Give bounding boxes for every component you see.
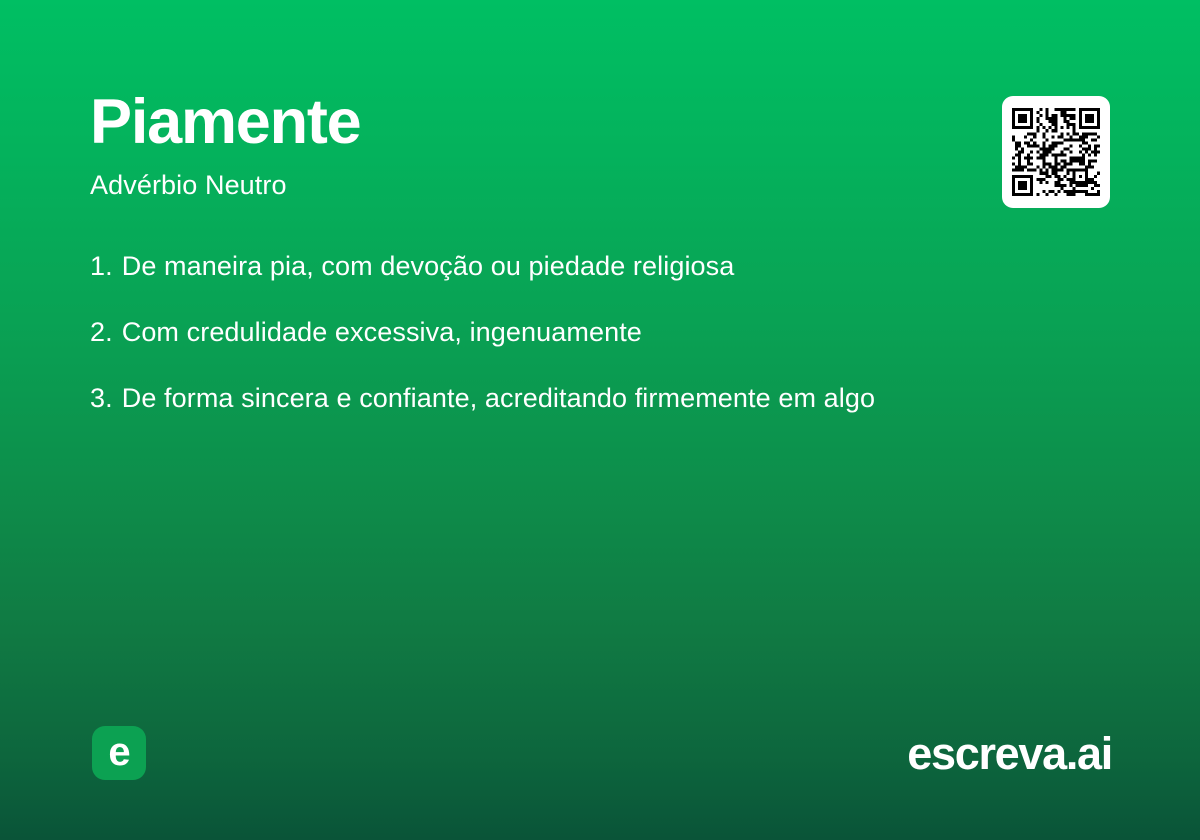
list-item: 1. De maneira pia, com devoção ou piedad… [90, 248, 1120, 284]
definition-index: 2. [90, 314, 113, 350]
page-title: Piamente [90, 86, 361, 158]
definition-text: De maneira pia, com devoção ou piedade r… [122, 248, 735, 284]
brand-logo-letter: e [108, 732, 129, 772]
definition-text: Com credulidade excessiva, ingenuamente [122, 314, 642, 350]
definition-text: De forma sincera e confiante, acreditand… [122, 380, 875, 416]
word-class-label: Advérbio Neutro [90, 168, 287, 202]
brand-wordmark: escreva.ai [907, 728, 1112, 780]
definition-card: Piamente Advérbio Neutro 1. De maneira p… [0, 0, 1200, 840]
qr-code-icon[interactable] [1002, 96, 1110, 208]
list-item: 3. De forma sincera e confiante, acredit… [90, 380, 1120, 416]
definition-index: 3. [90, 380, 113, 416]
brand-logo-icon: e [92, 726, 146, 780]
list-item: 2. Com credulidade excessiva, ingenuamen… [90, 314, 1120, 350]
definition-list: 1. De maneira pia, com devoção ou piedad… [90, 248, 1120, 446]
definition-index: 1. [90, 248, 113, 284]
